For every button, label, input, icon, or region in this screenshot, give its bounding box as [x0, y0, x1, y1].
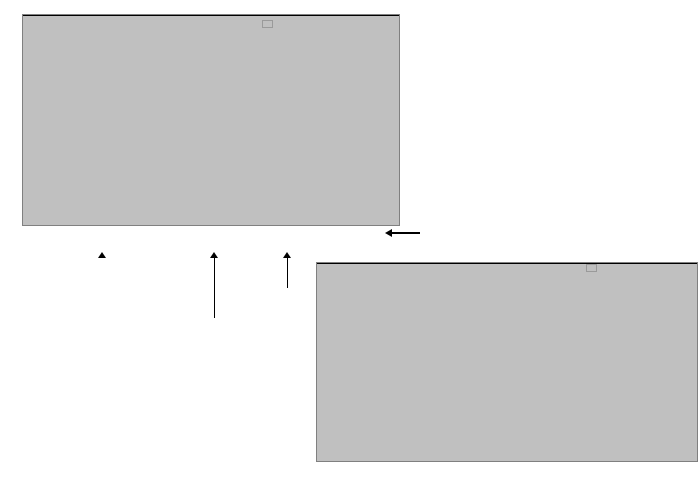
chart-top-x-axis: [22, 226, 400, 252]
chart-top-legend: [262, 20, 273, 28]
chart-bottom-plot-area: [316, 262, 698, 462]
arrow-to-hydrodynamics: [392, 232, 420, 234]
chart-bottom-x-axis: [316, 462, 698, 488]
chart-top-y-axis: [0, 6, 22, 254]
chart-bottom-legend: [586, 264, 597, 272]
chart-bottom-y-axis: [296, 258, 316, 496]
leader-line-geophysics: [287, 258, 288, 288]
chart-top: [0, 6, 400, 254]
chart-bottom-reference-line: [317, 263, 697, 264]
leader-line-soil: [214, 258, 215, 318]
chart-top-plot-area: [22, 14, 400, 226]
chart-bottom-bars: [317, 263, 697, 461]
chart-top-reference-line: [23, 15, 399, 16]
pointer-geology-marker: [98, 252, 106, 258]
slide: [0, 0, 700, 497]
chart-bottom: [296, 258, 700, 496]
chart-top-bars: [23, 15, 399, 225]
